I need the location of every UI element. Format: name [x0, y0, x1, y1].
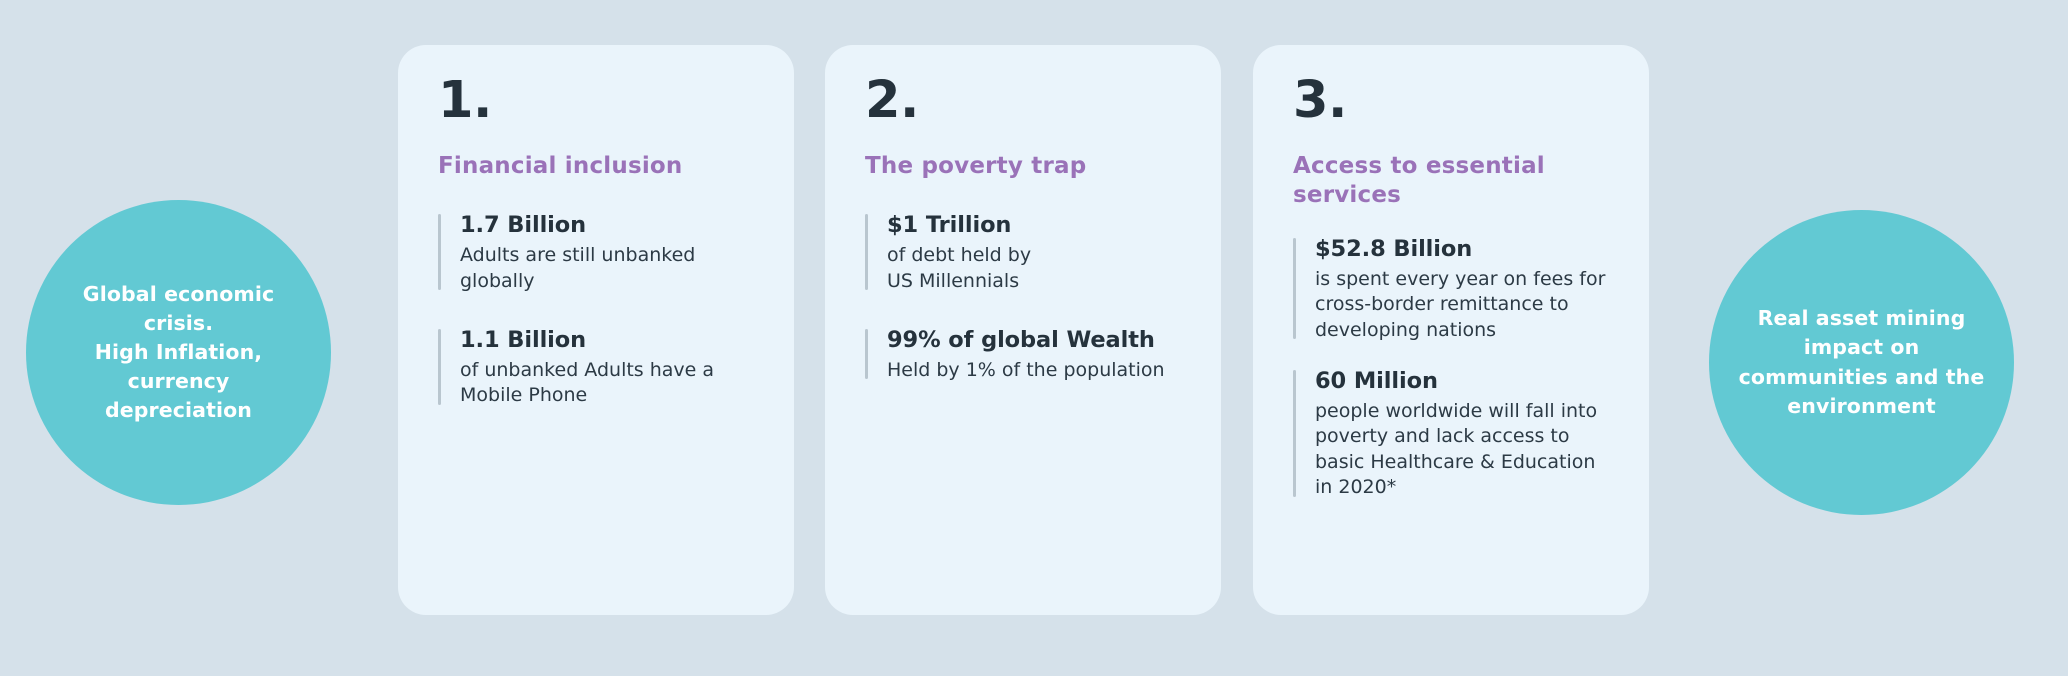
stat-block: $52.8 Billion is spent every year on fee… — [1293, 235, 1609, 343]
problem-circle-right-text: Real asset mining impact on communities … — [1735, 304, 1988, 420]
problem-circle-left-text: Global economic crisis. High Inflation, … — [52, 280, 305, 426]
stat-block: 1.7 Billion Adults are still unbanked gl… — [438, 211, 754, 294]
problem-circle-right: Real asset mining impact on communities … — [1709, 210, 2014, 515]
stat-value: $52.8 Billion — [1315, 235, 1609, 264]
card-access-essential-services: 3. Access to essential services $52.8 Bi… — [1253, 45, 1649, 615]
stat-description: of debt held by US Millennials — [887, 243, 1181, 294]
stat-value: 99% of global Wealth — [887, 326, 1181, 355]
stat-description: Adults are still unbanked globally — [460, 243, 754, 294]
problem-circle-left: Global economic crisis. High Inflation, … — [26, 200, 331, 505]
stat-block: 1.1 Billion of unbanked Adults have a Mo… — [438, 326, 754, 409]
card-title: Access to essential services — [1293, 152, 1563, 211]
stat-value: 1.1 Billion — [460, 326, 754, 355]
stat-description: of unbanked Adults have a Mobile Phone — [460, 358, 754, 409]
card-financial-inclusion: 1. Financial inclusion 1.7 Billion Adult… — [398, 45, 794, 615]
stat-value: $1 Trillion — [887, 211, 1181, 240]
card-title: Financial inclusion — [438, 152, 708, 181]
card-number: 1. — [438, 75, 754, 126]
card-title: The poverty trap — [865, 152, 1135, 181]
stat-value: 1.7 Billion — [460, 211, 754, 240]
card-number: 2. — [865, 75, 1181, 126]
card-poverty-trap: 2. The poverty trap $1 Trillion of debt … — [825, 45, 1221, 615]
stat-block: 99% of global Wealth Held by 1% of the p… — [865, 326, 1181, 383]
stat-description: people worldwide will fall into poverty … — [1315, 399, 1609, 501]
stat-block: 60 Million people worldwide will fall in… — [1293, 367, 1609, 501]
stat-value: 60 Million — [1315, 367, 1609, 396]
stat-description: is spent every year on fees for cross-bo… — [1315, 267, 1609, 343]
stat-description: Held by 1% of the population — [887, 358, 1181, 383]
stat-block: $1 Trillion of debt held by US Millennia… — [865, 211, 1181, 294]
infographic-canvas: Global economic crisis. High Inflation, … — [0, 0, 2068, 676]
card-number: 3. — [1293, 75, 1609, 126]
